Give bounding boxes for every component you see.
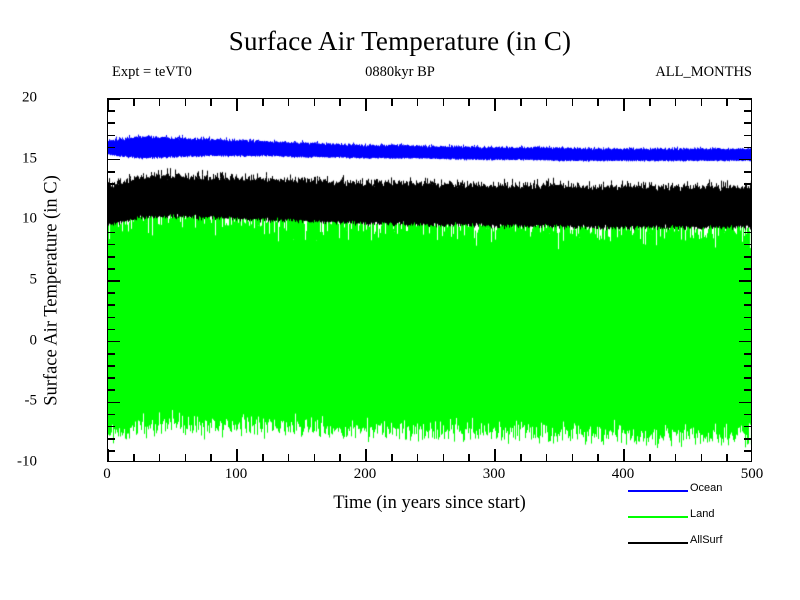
- y-tick: [108, 232, 115, 234]
- y-tick: [744, 450, 751, 452]
- y-tick: [744, 268, 751, 270]
- x-tick: [236, 99, 238, 111]
- y-tick: [108, 171, 115, 173]
- x-tick-label: 400: [612, 466, 635, 483]
- x-tick-label: 500: [741, 466, 764, 483]
- x-tick: [675, 99, 677, 106]
- y-tick: [108, 135, 115, 137]
- x-tick: [159, 454, 161, 461]
- x-tick: [314, 99, 316, 106]
- y-tick: [108, 365, 115, 367]
- chart-page: Surface Air Temperature (in C) Expt = te…: [0, 0, 800, 600]
- y-tick: [744, 365, 751, 367]
- y-tick-label: -5: [25, 393, 38, 410]
- x-tick: [597, 99, 599, 106]
- y-tick: [739, 402, 751, 404]
- x-tick: [726, 99, 728, 106]
- y-tick: [108, 414, 115, 416]
- y-tick: [108, 122, 115, 124]
- y-tick: [739, 98, 751, 100]
- y-tick: [108, 438, 115, 440]
- x-tick: [107, 99, 109, 111]
- y-tick: [108, 147, 115, 149]
- y-tick-label: 10: [22, 211, 37, 228]
- y-tick: [744, 207, 751, 209]
- y-tick: [108, 110, 115, 112]
- x-tick: [520, 99, 522, 106]
- y-tick: [108, 220, 120, 222]
- y-tick: [108, 280, 120, 282]
- y-tick: [108, 304, 115, 306]
- legend-label: Land: [690, 508, 714, 520]
- y-tick: [739, 341, 751, 343]
- y-tick: [744, 389, 751, 391]
- x-tick: [262, 454, 264, 461]
- legend-swatch-line: [628, 542, 688, 544]
- x-tick: [210, 454, 212, 461]
- y-tick: [744, 292, 751, 294]
- x-tick: [701, 454, 703, 461]
- y-tick: [108, 268, 115, 270]
- x-tick: [185, 99, 187, 106]
- y-tick: [108, 244, 115, 246]
- series-canvas: [108, 99, 752, 462]
- y-tick-label: 5: [30, 272, 38, 289]
- y-tick: [108, 353, 115, 355]
- y-tick: [108, 426, 115, 428]
- x-tick: [701, 99, 703, 106]
- x-tick: [417, 99, 419, 106]
- y-tick: [744, 183, 751, 185]
- legend-swatch-line: [628, 490, 688, 492]
- y-tick: [744, 171, 751, 173]
- x-tick-label: 0: [103, 466, 111, 483]
- y-tick: [108, 389, 115, 391]
- x-tick-label: 100: [225, 466, 248, 483]
- x-tick: [468, 99, 470, 106]
- x-tick: [391, 99, 393, 106]
- x-tick: [339, 99, 341, 106]
- x-tick: [417, 454, 419, 461]
- y-tick-label: -10: [17, 454, 37, 471]
- legend-swatch-line: [628, 516, 688, 518]
- x-tick: [494, 449, 496, 461]
- months-label: ALL_MONTHS: [655, 64, 752, 81]
- y-tick: [108, 195, 115, 197]
- y-tick: [108, 98, 120, 100]
- y-tick: [744, 244, 751, 246]
- y-tick: [108, 402, 120, 404]
- y-tick: [744, 414, 751, 416]
- x-tick: [133, 454, 135, 461]
- y-tick: [744, 195, 751, 197]
- y-tick: [108, 159, 120, 161]
- x-tick: [572, 99, 574, 106]
- y-tick: [108, 450, 115, 452]
- x-tick: [726, 454, 728, 461]
- x-tick: [597, 454, 599, 461]
- y-tick: [744, 135, 751, 137]
- x-tick: [210, 99, 212, 106]
- x-tick: [649, 454, 651, 461]
- y-tick: [744, 377, 751, 379]
- x-tick: [159, 99, 161, 106]
- x-tick: [546, 454, 548, 461]
- y-tick: [108, 207, 115, 209]
- y-tick: [108, 329, 115, 331]
- legend-label: AllSurf: [690, 534, 722, 546]
- y-tick-label: 0: [30, 332, 38, 349]
- y-tick: [744, 329, 751, 331]
- legend-label: Ocean: [690, 482, 722, 494]
- x-tick: [314, 454, 316, 461]
- y-tick: [739, 220, 751, 222]
- y-tick: [744, 256, 751, 258]
- y-tick: [744, 232, 751, 234]
- x-tick: [185, 454, 187, 461]
- x-axis-title: Time (in years since start): [107, 493, 752, 514]
- x-tick: [288, 99, 290, 106]
- y-tick: [108, 256, 115, 258]
- x-tick: [133, 99, 135, 106]
- x-tick: [339, 454, 341, 461]
- y-tick: [744, 426, 751, 428]
- y-axis-title: Surface Air Temperature (in C): [42, 111, 63, 471]
- x-tick: [623, 449, 625, 461]
- x-tick: [494, 99, 496, 111]
- plot-area: [107, 98, 752, 462]
- y-tick: [108, 377, 115, 379]
- y-tick: [108, 341, 120, 343]
- x-tick: [391, 454, 393, 461]
- x-tick-label: 300: [483, 466, 506, 483]
- y-tick: [744, 438, 751, 440]
- y-tick: [744, 110, 751, 112]
- y-tick-label: 20: [22, 90, 37, 107]
- x-tick: [623, 99, 625, 111]
- chart-title: Surface Air Temperature (in C): [0, 26, 800, 57]
- x-tick-label: 200: [354, 466, 377, 483]
- y-tick: [739, 159, 751, 161]
- x-tick: [443, 454, 445, 461]
- x-tick: [468, 454, 470, 461]
- x-tick: [649, 99, 651, 106]
- x-tick: [546, 99, 548, 106]
- x-tick: [107, 449, 109, 461]
- y-tick: [744, 304, 751, 306]
- x-tick: [236, 449, 238, 461]
- y-tick: [744, 317, 751, 319]
- y-tick: [108, 292, 115, 294]
- y-tick: [744, 147, 751, 149]
- x-tick: [365, 449, 367, 461]
- y-tick: [744, 122, 751, 124]
- x-tick: [365, 99, 367, 111]
- x-tick: [572, 454, 574, 461]
- x-tick: [520, 454, 522, 461]
- x-tick: [262, 99, 264, 106]
- y-tick: [744, 353, 751, 355]
- y-tick-label: 15: [22, 150, 37, 167]
- x-tick: [443, 99, 445, 106]
- y-tick: [108, 317, 115, 319]
- x-tick: [288, 454, 290, 461]
- y-tick: [739, 280, 751, 282]
- y-tick: [108, 183, 115, 185]
- x-tick: [675, 454, 677, 461]
